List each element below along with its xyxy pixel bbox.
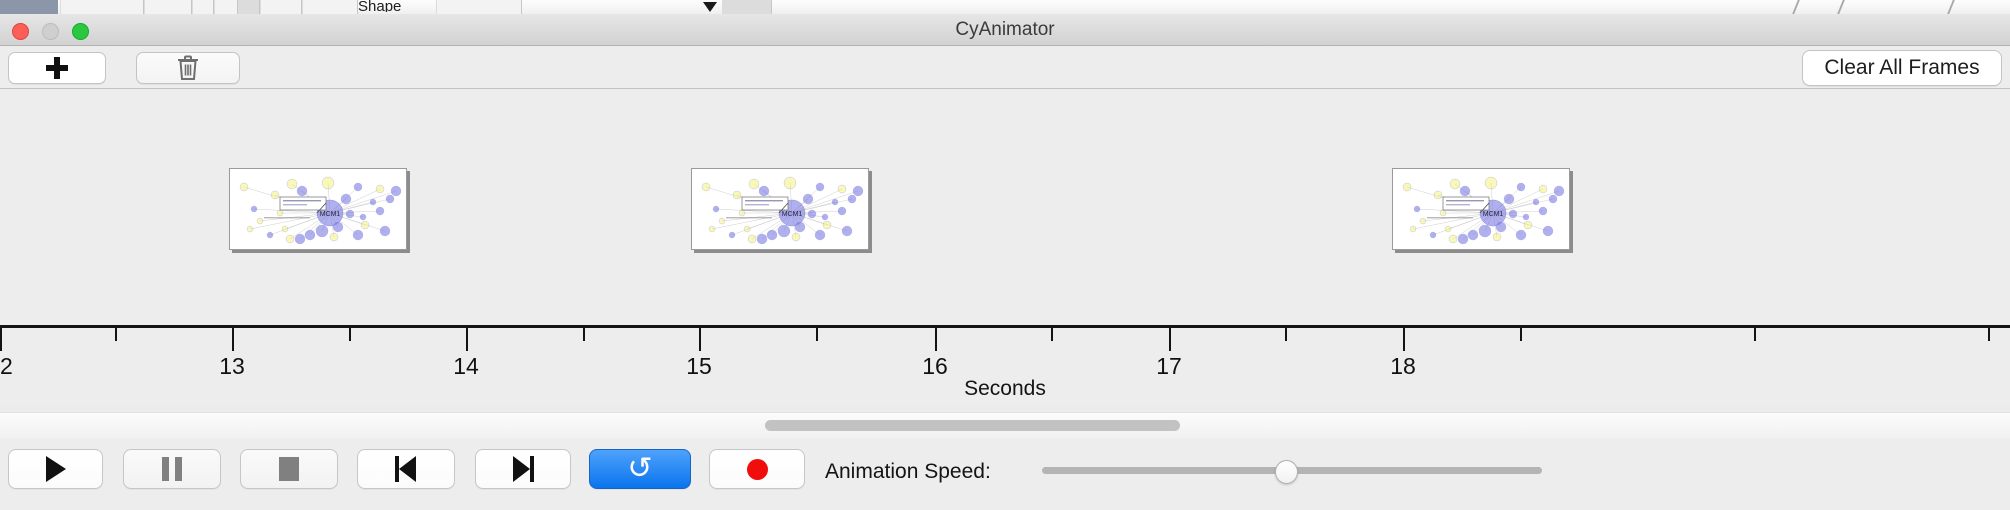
skip-to-start-button[interactable] [357,449,455,489]
animation-speed-label: Animation Speed: [825,460,991,484]
ruler-tick-major [1169,328,1171,351]
ruler-tick-major [0,328,2,351]
bg-tab [214,0,238,14]
bg-tab [60,0,144,14]
timeline-frame-thumbnail[interactable]: MCM1 [1392,168,1570,250]
skip-to-end-button[interactable] [475,449,571,489]
bg-tab [722,0,772,14]
animation-speed-slider-knob[interactable] [1275,460,1298,484]
timeline-ruler: Seconds 12131415161718 [0,325,2010,403]
ruler-tick-major [232,328,234,351]
ruler-tick-label: 16 [922,353,948,380]
ruler-baseline [0,325,2010,328]
network-thumbnail-image: MCM1 [230,169,406,249]
plus-icon [46,57,68,79]
trash-icon [176,55,200,81]
svg-text:MCM1: MCM1 [782,211,803,218]
bg-tab [144,0,192,14]
bg-tab [436,0,522,14]
stop-button[interactable] [240,449,338,489]
ruler-tick-major [699,328,701,351]
bg-tab [192,0,214,14]
bg-chevron-icon [1792,0,1822,14]
bg-window-label: Shape [358,0,401,12]
ruler-tick-minor [1285,328,1287,341]
skip-forward-icon [512,456,534,482]
transport-bar: Animation Speed: ↺ [0,438,2010,510]
ruler-tick-minor [816,328,818,341]
bg-tab [238,0,260,14]
ruler-tick-minor [1988,328,1990,341]
bg-cursor-arrow-icon [703,2,717,12]
scrollbar-thumb[interactable] [765,420,1180,431]
pause-button[interactable] [123,449,221,489]
ruler-tick-major [935,328,937,351]
ruler-tick-minor [583,328,585,341]
background-window-strip: Shape [0,0,2010,15]
delete-frame-button[interactable] [136,52,240,84]
title-bar: CyAnimator [0,14,2010,46]
ruler-tick-minor [1051,328,1053,341]
ruler-tick-label: 12 [0,353,13,380]
play-icon [46,456,66,482]
bg-tab [302,0,358,14]
ruler-tick-label: 17 [1156,353,1182,380]
timeline-frame-thumbnail[interactable]: MCM1 [691,168,869,250]
bg-tab [260,0,302,14]
clear-all-frames-button[interactable]: Clear All Frames [1802,50,2002,86]
play-button[interactable] [8,449,103,489]
ruler-axis-title: Seconds [0,377,2010,401]
timeline-scrollbar[interactable] [0,412,2010,439]
ruler-tick-label: 18 [1390,353,1416,380]
network-thumbnail-image: MCM1 [692,169,868,249]
timeline-frame-thumbnail[interactable]: MCM1 [229,168,407,250]
window-title: CyAnimator [0,14,2010,45]
bg-chevron-icon [1837,0,1867,14]
bg-tab-dark [0,0,58,14]
svg-text:MCM1: MCM1 [1483,211,1504,218]
loop-button[interactable]: ↺ [589,449,691,489]
ruler-tick-label: 15 [686,353,712,380]
ruler-tick-minor [115,328,117,341]
svg-text:MCM1: MCM1 [320,211,341,218]
skip-back-icon [395,456,417,482]
ruler-tick-minor [349,328,351,341]
cyanimator-window: Shape CyAnimator Clear All Frames [0,0,2010,510]
loop-icon: ↺ [627,454,652,484]
toolbar: Clear All Frames [0,46,2010,89]
stop-icon [279,457,299,481]
bg-chevron-icon [1947,0,1977,14]
add-frame-button[interactable] [8,52,106,84]
pause-icon [162,457,182,481]
record-icon [747,459,768,480]
timeline-panel[interactable]: MCM1 MCM1 MCM1 [0,89,2010,326]
ruler-tick-label: 14 [453,353,479,380]
ruler-tick-minor [1520,328,1522,341]
network-thumbnail-image: MCM1 [1393,169,1569,249]
ruler-tick-minor [1754,328,1756,341]
ruler-tick-major [466,328,468,351]
record-button[interactable] [709,449,805,489]
ruler-tick-label: 13 [219,353,245,380]
ruler-tick-major [1403,328,1405,351]
